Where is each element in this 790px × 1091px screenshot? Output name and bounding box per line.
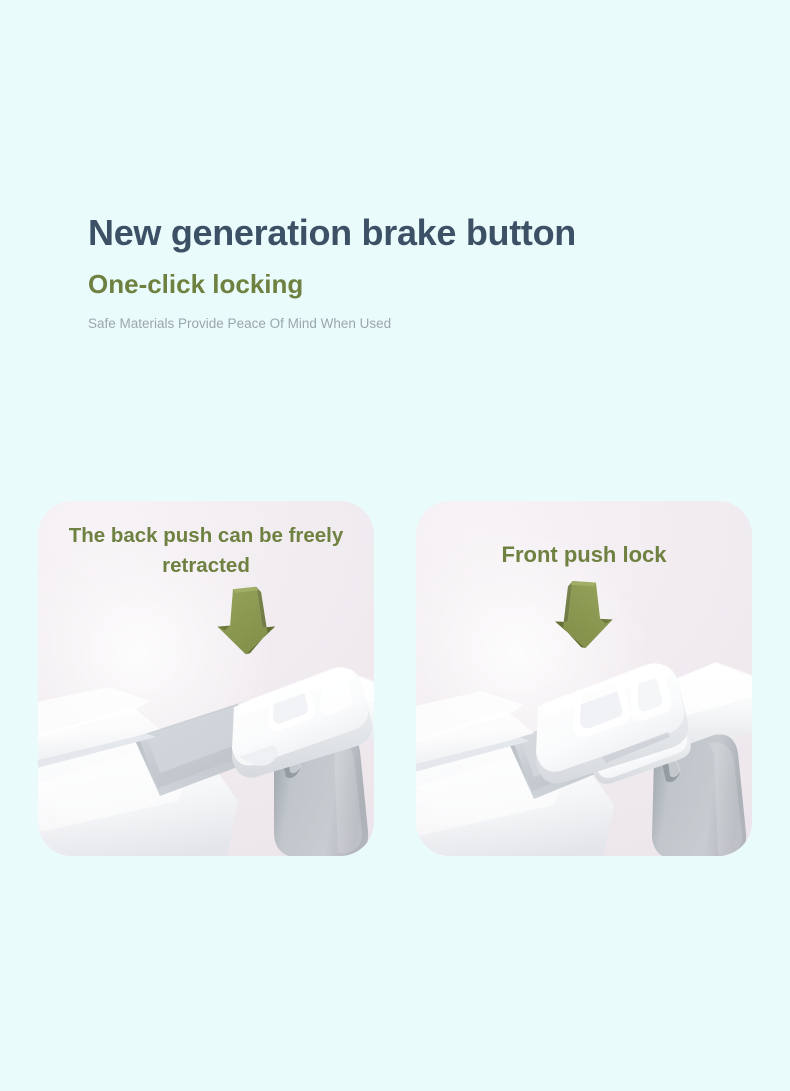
- page-subtitle: One-click locking: [88, 269, 728, 300]
- card-front-push: Front push lock: [416, 501, 752, 856]
- card-gallery: The back push can be freely retracted: [38, 501, 752, 856]
- card-back-push: The back push can be freely retracted: [38, 501, 374, 856]
- card-a-caption: The back push can be freely retracted: [38, 521, 374, 580]
- page-root: { "page": { "background_color": "#eafbfb…: [0, 0, 790, 1091]
- page-tagline: Safe Materials Provide Peace Of Mind Whe…: [88, 316, 728, 332]
- header: New generation brake button One-click lo…: [88, 212, 728, 332]
- card-b-caption: Front push lock: [416, 539, 752, 571]
- page-title: New generation brake button: [88, 212, 728, 254]
